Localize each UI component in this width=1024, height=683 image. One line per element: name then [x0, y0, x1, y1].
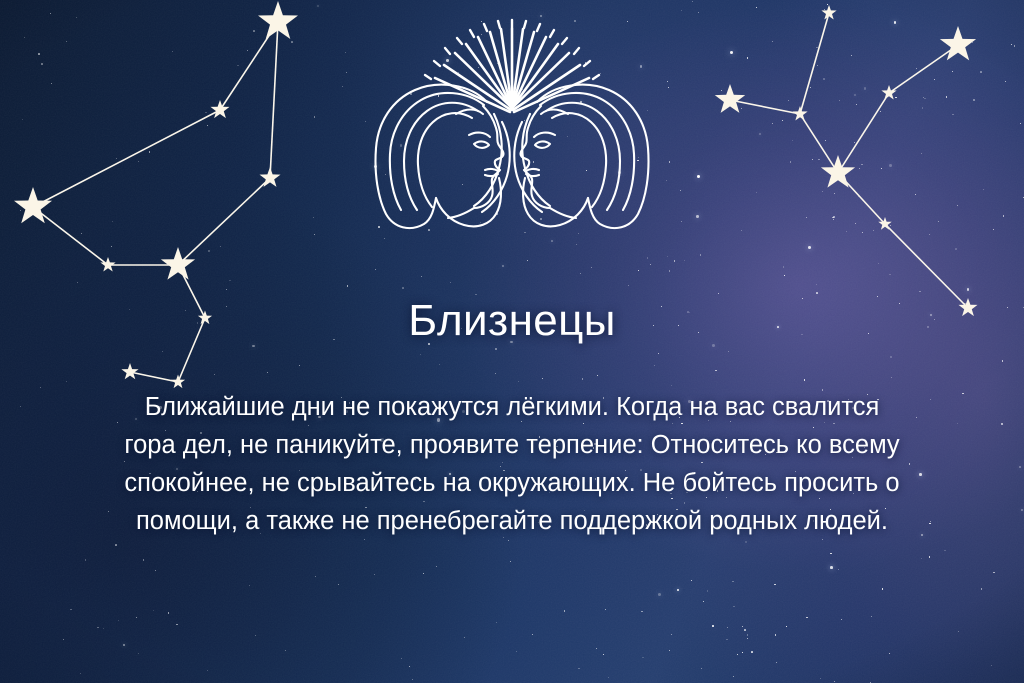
horoscope-poster: Близнецы Ближайшие дни не покажутся лёгк…	[0, 0, 1024, 683]
horoscope-text: Ближайшие дни не покажутся лёгкими. Когд…	[118, 388, 906, 540]
twin-left-figure	[375, 85, 509, 228]
twin-right-figure	[514, 85, 648, 228]
gemini-twins-emblem	[366, 18, 658, 238]
radiating-rays-group	[425, 20, 599, 112]
zodiac-sign-title: Близнецы	[0, 296, 1024, 346]
